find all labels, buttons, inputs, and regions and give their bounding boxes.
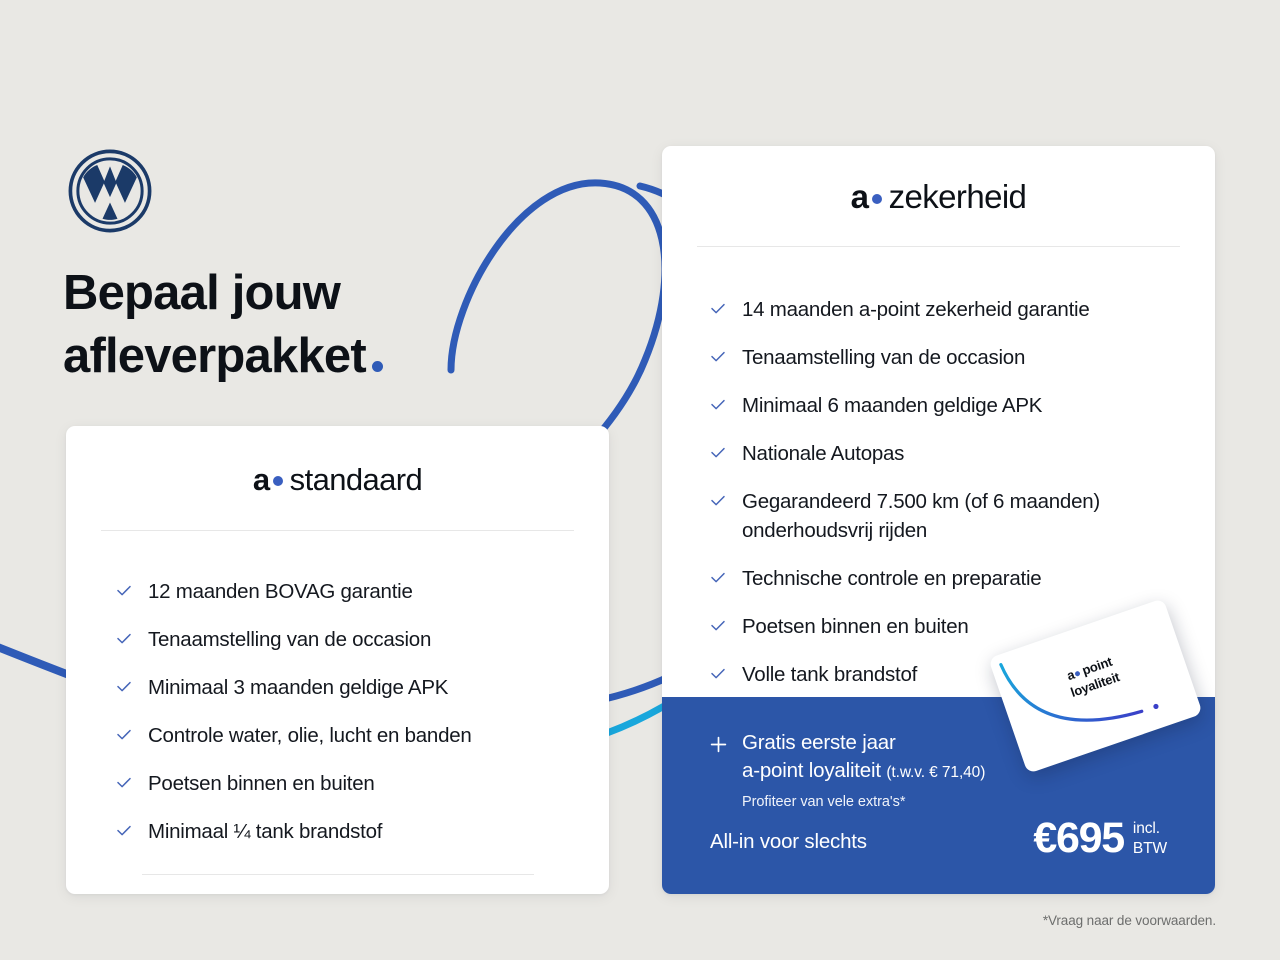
list-item-label: Nationale Autopas — [742, 439, 904, 468]
list-item: 14 maanden a-point zekerheid garantie — [710, 295, 1215, 324]
price-vat-line-2: BTW — [1133, 839, 1167, 859]
zekerheid-card-title: azekerheid — [662, 178, 1215, 216]
zekerheid-title-word: zekerheid — [889, 178, 1027, 215]
list-item-label: Controle water, olie, lucht en banden — [148, 721, 472, 750]
list-item: Nationale Autopas — [710, 439, 1215, 468]
list-item: Minimaal 6 maanden geldige APK — [710, 391, 1215, 420]
list-item: Gegarandeerd 7.500 km (of 6 maanden) ond… — [710, 487, 1215, 545]
list-item: Tenaamstelling van de occasion — [710, 343, 1215, 372]
volkswagen-logo — [66, 147, 154, 235]
headline-accent-dot — [372, 361, 383, 372]
check-icon — [710, 618, 726, 634]
list-item-label: Poetsen binnen en buiten — [742, 612, 969, 641]
standaard-title-word: standaard — [290, 462, 422, 497]
check-icon — [116, 775, 132, 791]
price-value-group: €695 incl. BTW — [1033, 816, 1167, 860]
list-item-label: 12 maanden BOVAG garantie — [148, 577, 413, 606]
plus-icon — [710, 736, 727, 753]
headline-line-2-wrap: afleverpakket — [63, 325, 603, 388]
standaard-brand-prefix: a — [253, 462, 270, 497]
price-vat-line-1: incl. — [1133, 819, 1167, 839]
zekerheid-divider — [697, 246, 1180, 247]
bonus-line-1: Gratis eerste jaar — [742, 729, 985, 757]
brand-dot-icon — [872, 194, 882, 204]
check-icon — [116, 583, 132, 599]
list-item-label: Gegarandeerd 7.500 km (of 6 maanden) ond… — [742, 487, 1182, 545]
zekerheid-brand-prefix: a — [851, 178, 869, 215]
price-row: All-in voor slechts €695 incl. BTW — [710, 816, 1167, 860]
promo-page: Bepaal jouw afleverpakket astandaard 12 … — [0, 0, 1280, 960]
standaard-divider — [101, 530, 574, 531]
list-item: Tenaamstelling van de occasion — [116, 625, 609, 654]
list-item-label: Minimaal 6 maanden geldige APK — [742, 391, 1042, 420]
list-item: Technische controle en preparatie — [710, 564, 1215, 593]
list-item-label: 14 maanden a-point zekerheid garantie — [742, 295, 1089, 324]
list-item-label: Volle tank brandstof — [742, 660, 917, 689]
standaard-price-divider — [142, 874, 534, 875]
check-icon — [116, 631, 132, 647]
check-icon — [710, 349, 726, 365]
check-icon — [116, 823, 132, 839]
check-icon — [710, 666, 726, 682]
list-item: Controle water, olie, lucht en banden — [116, 721, 609, 750]
price-caption: All-in voor slechts — [710, 830, 867, 860]
package-card-standaard[interactable]: astandaard 12 maanden BOVAG garantie Ten… — [66, 426, 609, 894]
price-vat-note: incl. BTW — [1133, 819, 1167, 859]
brand-dot-icon — [273, 476, 283, 486]
list-item: Minimaal ¼ tank brandstof — [116, 817, 609, 846]
list-item: Poetsen binnen en buiten — [116, 769, 609, 798]
brand-dot-icon — [1074, 670, 1080, 676]
list-item-label: Minimaal 3 maanden geldige APK — [148, 673, 448, 702]
headline-line-2: afleverpakket — [63, 329, 366, 383]
check-icon — [116, 727, 132, 743]
bonus-block: Gratis eerste jaar a-point loyaliteit (t… — [710, 729, 985, 813]
list-item-label: Minimaal ¼ tank brandstof — [148, 817, 382, 846]
standaard-feature-list: 12 maanden BOVAG garantie Tenaamstelling… — [116, 577, 609, 846]
check-icon — [710, 493, 726, 509]
check-icon — [710, 301, 726, 317]
list-item: 12 maanden BOVAG garantie — [116, 577, 609, 606]
list-item-label: Tenaamstelling van de occasion — [742, 343, 1025, 372]
check-icon — [116, 679, 132, 695]
list-item-label: Poetsen binnen en buiten — [148, 769, 375, 798]
check-icon — [710, 397, 726, 413]
package-card-zekerheid[interactable]: azekerheid 14 maanden a-point zekerheid … — [662, 146, 1215, 894]
price-amount: €695 — [1033, 816, 1123, 860]
check-icon — [710, 445, 726, 461]
footnote: *Vraag naar de voorwaarden. — [1043, 913, 1216, 928]
standaard-card-title: astandaard — [66, 462, 609, 498]
list-item-label: Tenaamstelling van de occasion — [148, 625, 431, 654]
list-item-label: Technische controle en preparatie — [742, 564, 1041, 593]
bonus-subtext: Profiteer van vele extra's* — [742, 791, 985, 813]
headline-line-1: Bepaal jouw — [63, 262, 603, 325]
page-title: Bepaal jouw afleverpakket — [63, 262, 603, 388]
check-icon — [710, 570, 726, 586]
bonus-product-name: a-point loyaliteit — [742, 759, 881, 782]
bonus-line-2: a-point loyaliteit (t.w.v. € 71,40) — [742, 757, 985, 787]
bonus-value-note: (t.w.v. € 71,40) — [886, 764, 985, 781]
list-item: Minimaal 3 maanden geldige APK — [116, 673, 609, 702]
